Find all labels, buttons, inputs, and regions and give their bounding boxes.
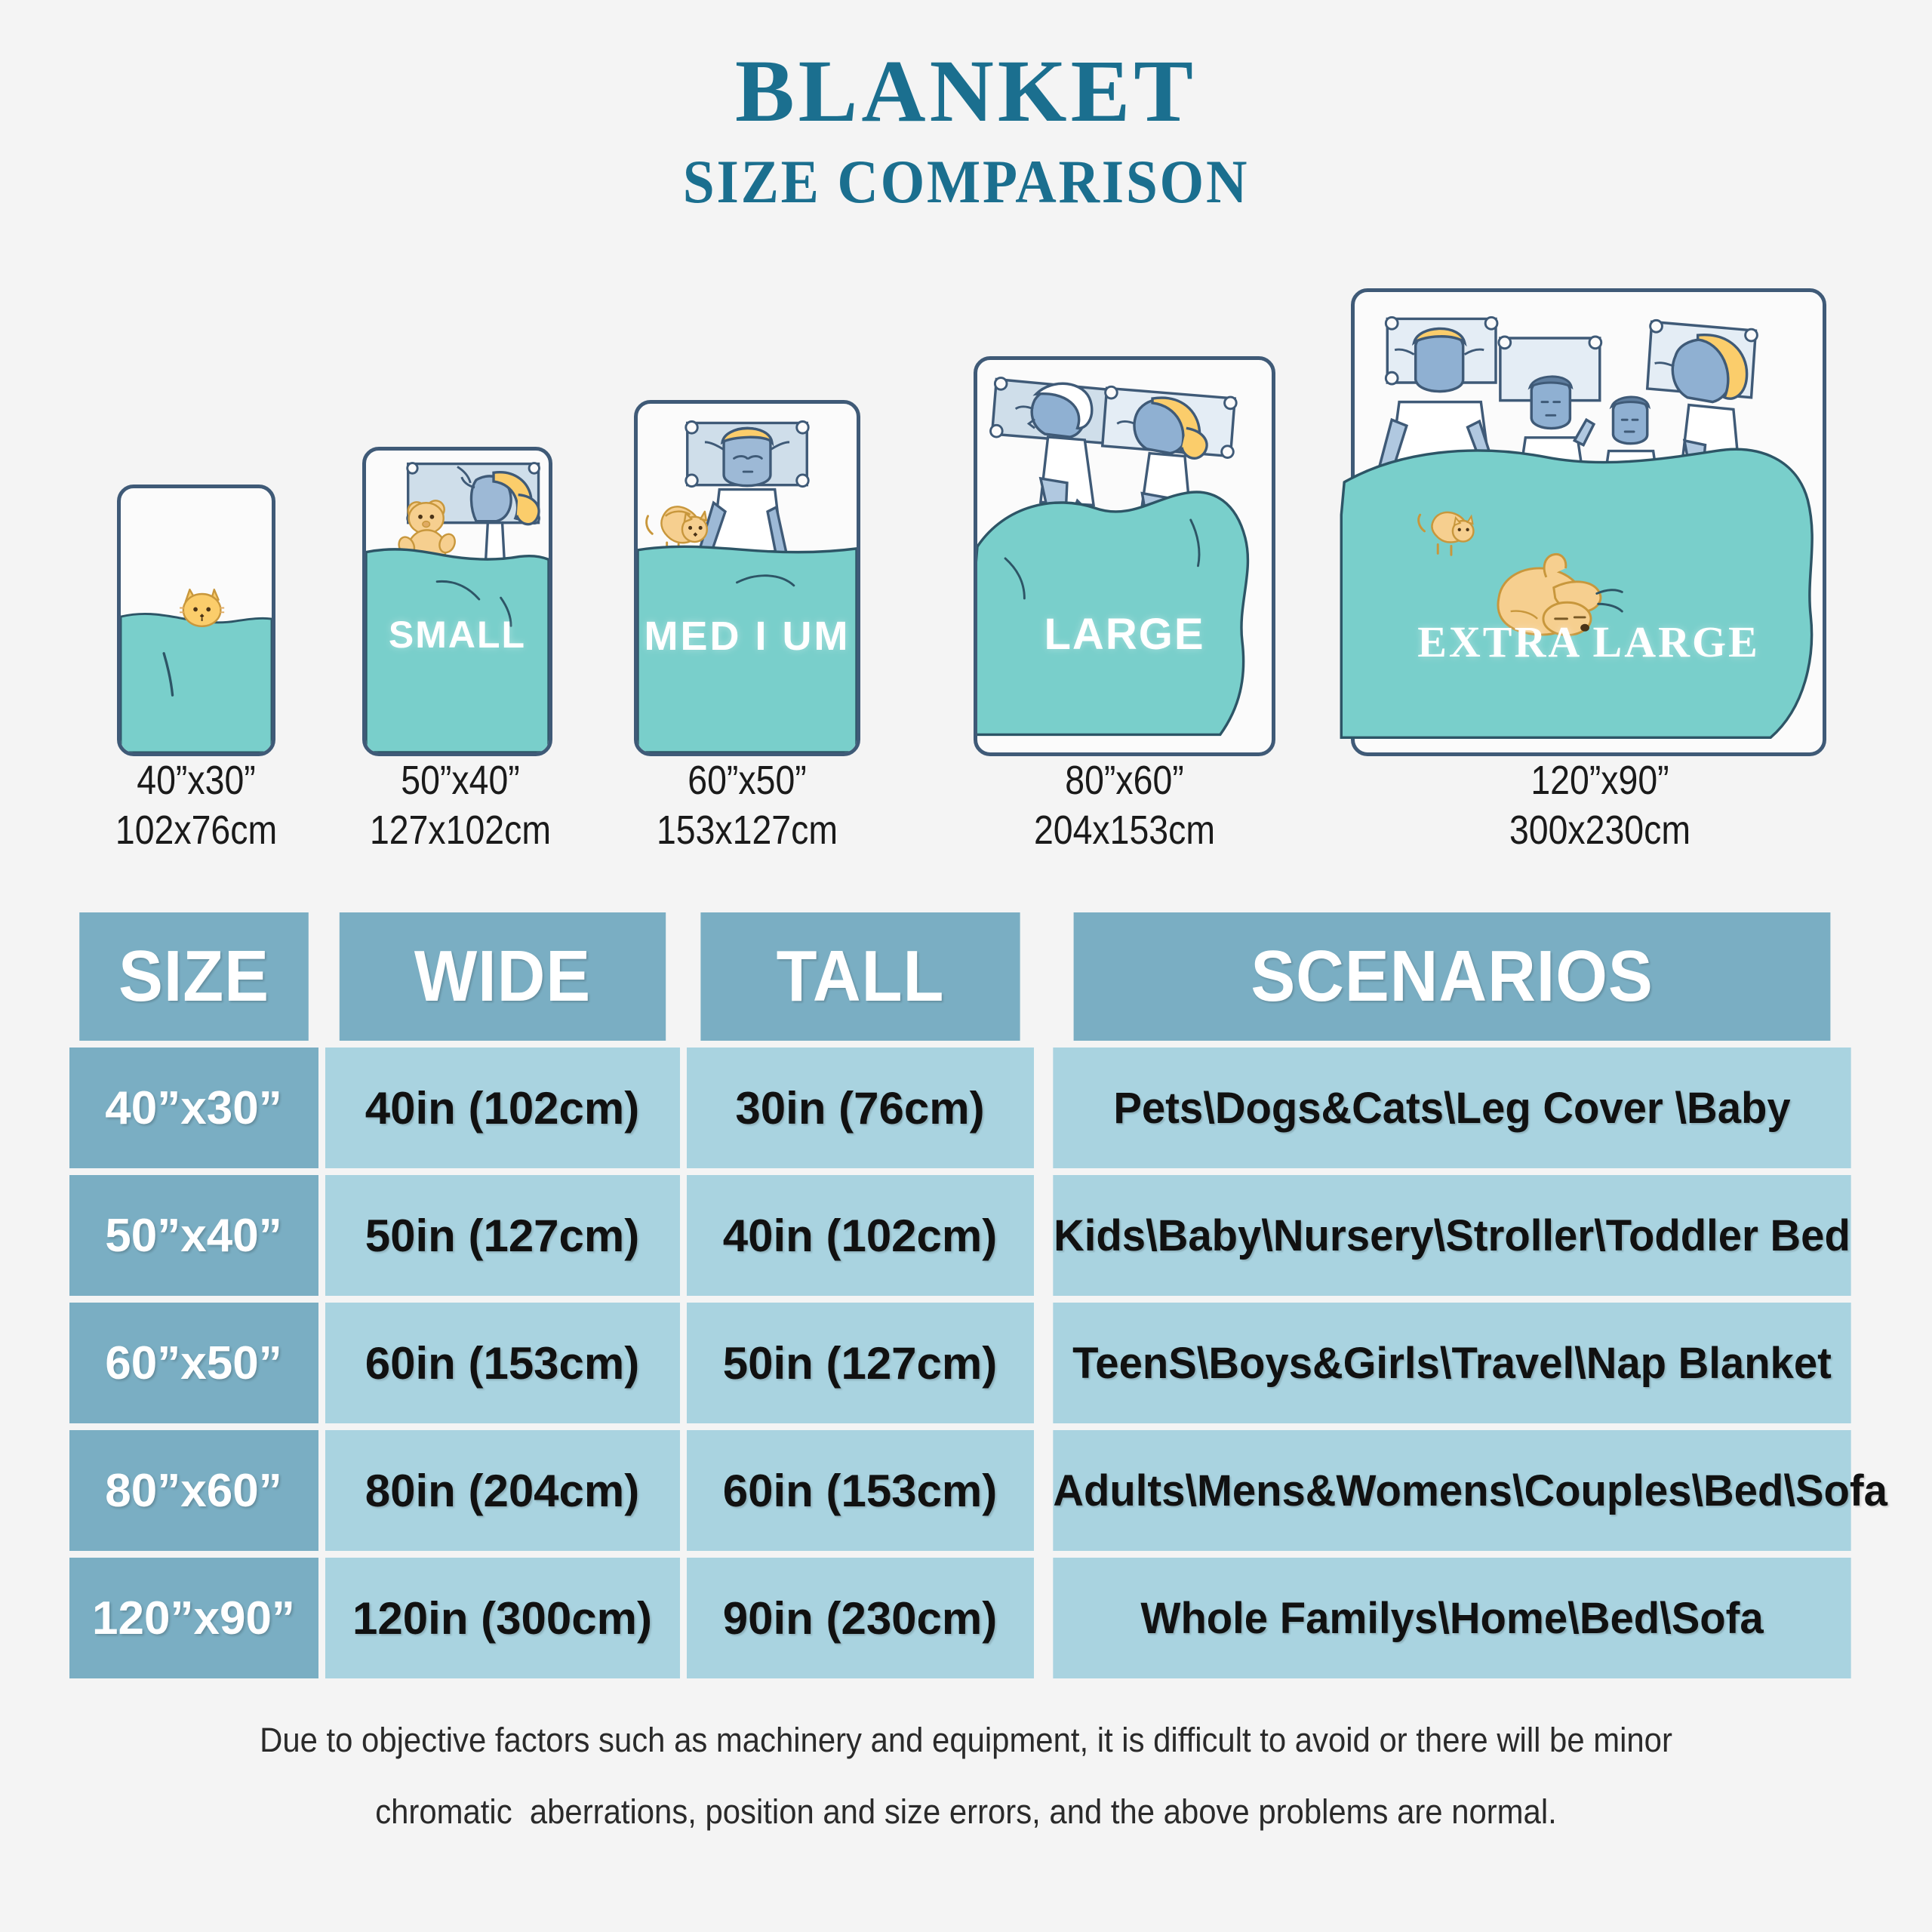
- column-header-tall: TALL: [700, 912, 1020, 1041]
- dimension-inches: 80”x60”: [1020, 756, 1228, 806]
- cell-size: 50”x40”: [69, 1175, 318, 1296]
- cell-wide: 120in (300cm): [325, 1558, 680, 1678]
- column-header-wide: WIDE: [339, 912, 665, 1041]
- bed-illustration-120x90: EXTRA LARGE: [1351, 288, 1826, 756]
- bed-scene-man-cat-icon: [638, 404, 857, 752]
- dimension-inches: 50”x40”: [356, 756, 564, 806]
- bed-illustration-40x30: [117, 485, 275, 756]
- page-header: BLANKET SIZE COMPARISON: [0, 0, 1932, 217]
- bed-frame: [634, 400, 860, 756]
- bed-illustration-50x40: SMALL: [362, 447, 552, 756]
- bed-frame: [362, 447, 552, 756]
- cell-wide: 40in (102cm): [325, 1048, 680, 1168]
- cell-scenarios: Adults\Mens&Womens\Couples\Bed\Sofa: [1053, 1430, 1850, 1551]
- dimension-caption-120x90: 120”x90” 300x230cm: [1483, 756, 1717, 856]
- cell-size: 60”x50”: [69, 1303, 318, 1423]
- cell-wide: 60in (153cm): [325, 1303, 680, 1423]
- bed-frame: [1351, 288, 1826, 756]
- dimension-cm: 204x153cm: [1020, 806, 1228, 856]
- dimension-caption-80x60: 80”x60” 204x153cm: [1020, 756, 1228, 856]
- bed-frame: [117, 485, 275, 756]
- dimension-cm: 153x127cm: [643, 806, 851, 856]
- cell-wide: 80in (204cm): [325, 1430, 680, 1551]
- cell-tall: 40in (102cm): [687, 1175, 1034, 1296]
- disclaimer-note: Due to objective factors such as machine…: [0, 1705, 1932, 1847]
- dimension-cm: 127x102cm: [356, 806, 564, 856]
- dimension-cm: 300x230cm: [1483, 806, 1717, 856]
- bed-scene-girl-teddy-icon: [366, 451, 549, 752]
- table-row: 60”x50” 60in (153cm) 50in (127cm) TeenS\…: [69, 1303, 1863, 1423]
- cell-tall: 50in (127cm): [687, 1303, 1034, 1423]
- cell-scenarios: Whole Familys\Home\Bed\Sofa: [1053, 1558, 1850, 1678]
- cell-tall: 30in (76cm): [687, 1048, 1034, 1168]
- cell-size: 120”x90”: [69, 1558, 318, 1678]
- dimension-caption-50x40: 50”x40” 127x102cm: [356, 756, 564, 856]
- bed-scene-cat-icon: [121, 488, 272, 752]
- column-header-scenarios: SCENARIOS: [1073, 912, 1830, 1041]
- bed-scene-couple-icon: [977, 360, 1272, 752]
- cell-tall: 60in (153cm): [687, 1430, 1034, 1551]
- page-title: BLANKET: [0, 47, 1932, 136]
- table-row: 50”x40” 50in (127cm) 40in (102cm) Kids\B…: [69, 1175, 1863, 1296]
- table-row: 40”x30” 40in (102cm) 30in (76cm) Pets\Do…: [69, 1048, 1863, 1168]
- dimension-inches: 40”x30”: [92, 756, 300, 806]
- cell-scenarios: Kids\Baby\Nursery\Stroller\Toddler Bed: [1053, 1175, 1850, 1296]
- dimension-caption-row: 40”x30” 102x76cm 50”x40” 127x102cm 60”x5…: [0, 756, 1932, 900]
- size-comparison-table: SIZE WIDE TALL SCENARIOS 40”x30” 40in (1…: [63, 906, 1870, 1685]
- bed-illustration-strip: SMALL: [0, 228, 1932, 756]
- disclaimer-line-1: Due to objective factors such as machine…: [68, 1705, 1865, 1777]
- dimension-cm: 102x76cm: [92, 806, 300, 856]
- column-header-size: SIZE: [79, 912, 309, 1041]
- bed-illustration-80x60: LARGE: [974, 356, 1275, 756]
- cell-size: 80”x60”: [69, 1430, 318, 1551]
- page-subtitle: SIZE COMPARISON: [77, 146, 1854, 217]
- table-row: 80”x60” 80in (204cm) 60in (153cm) Adults…: [69, 1430, 1863, 1551]
- cell-wide: 50in (127cm): [325, 1175, 680, 1296]
- cell-tall: 90in (230cm): [687, 1558, 1034, 1678]
- dimension-caption-40x30: 40”x30” 102x76cm: [92, 756, 300, 856]
- table-header-row: SIZE WIDE TALL SCENARIOS: [69, 912, 1863, 1041]
- bed-frame: [974, 356, 1275, 756]
- dimension-inches: 120”x90”: [1483, 756, 1717, 806]
- bed-illustration-60x50: MED I UM: [634, 400, 860, 756]
- cell-scenarios: Pets\Dogs&Cats\Leg Cover \Baby: [1053, 1048, 1850, 1168]
- dimension-inches: 60”x50”: [643, 756, 851, 806]
- dimension-caption-60x50: 60”x50” 153x127cm: [643, 756, 851, 856]
- cell-size: 40”x30”: [69, 1048, 318, 1168]
- cell-scenarios: TeenS\Boys&Girls\Travel\Nap Blanket: [1053, 1303, 1850, 1423]
- disclaimer-line-2: chromatic aberrations, position and size…: [68, 1777, 1865, 1848]
- bed-scene-family-icon: [1355, 292, 1823, 752]
- table-row: 120”x90” 120in (300cm) 90in (230cm) Whol…: [69, 1558, 1863, 1678]
